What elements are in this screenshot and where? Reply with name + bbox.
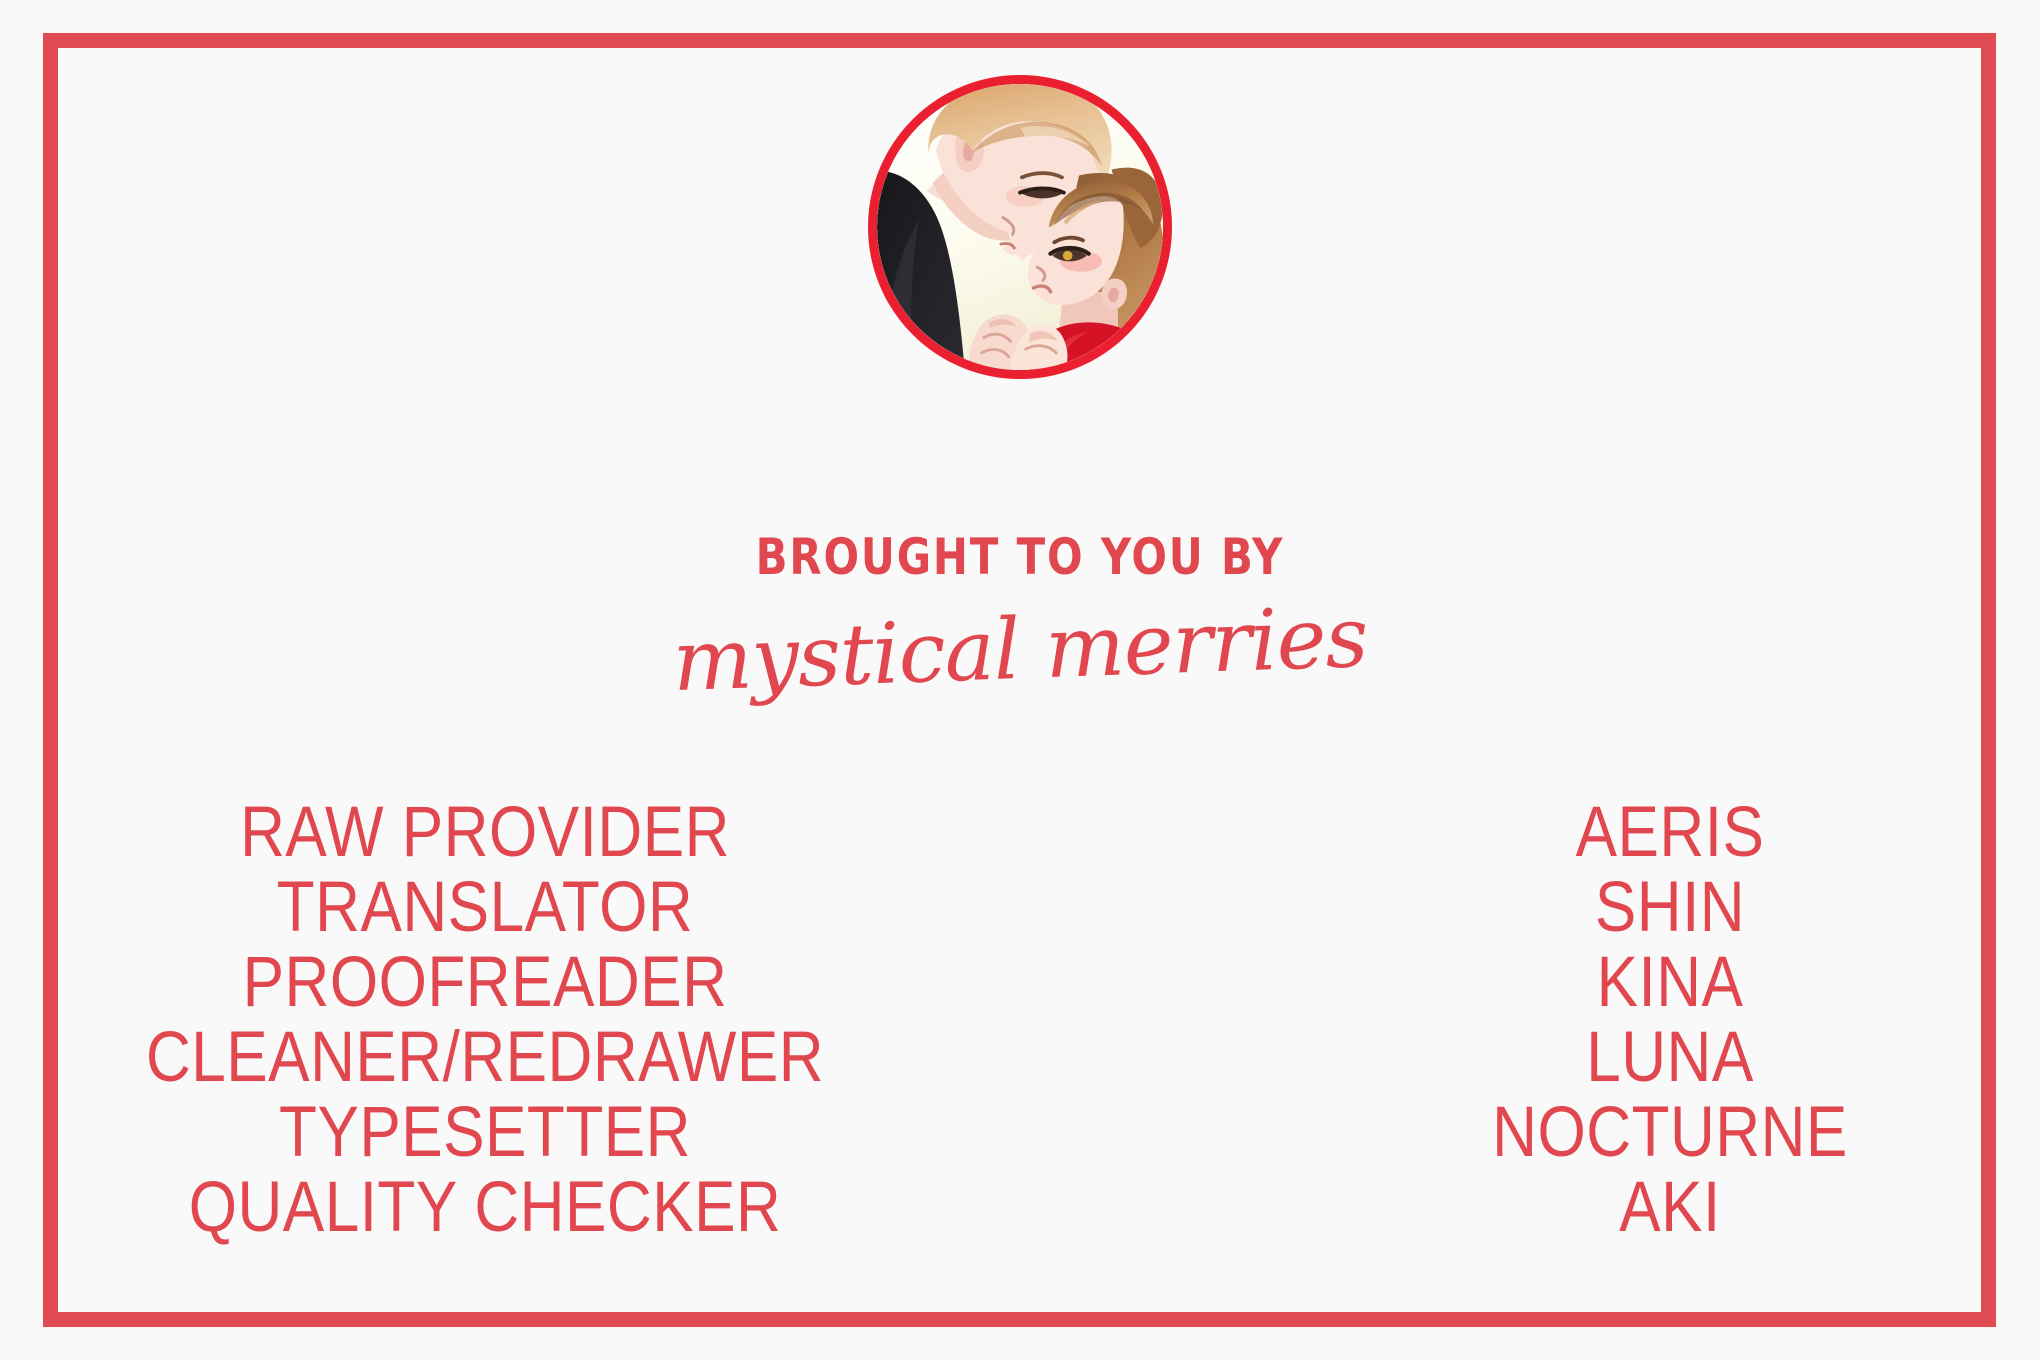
credits-list: RAW PROVIDER TRANSLATOR PROOFREADER CLEA… [0,790,2040,1210]
avatar-ring [868,75,1172,379]
credit-role: TYPESETTER [97,1090,873,1174]
couple-illustration-icon [877,84,1163,370]
credit-name: AKI [1282,1165,2040,1249]
credits-page: BROUGHT TO YOU BY mystical merries RAW P… [0,0,2040,1360]
avatar [868,75,1172,379]
credit-role: CLEANER/REDRAWER [97,1015,873,1099]
credit-name: LUNA [1282,1015,2040,1099]
credits-names-column: AERIS SHIN KINA LUNA NOCTURNE AKI [1270,790,2040,1240]
credit-name: SHIN [1282,865,2040,949]
credit-role: RAW PROVIDER [97,790,873,874]
credit-role: QUALITY CHECKER [97,1165,873,1249]
credit-role: TRANSLATOR [97,865,873,949]
credit-name: NOCTURNE [1282,1090,2040,1174]
credits-roles-column: RAW PROVIDER TRANSLATOR PROOFREADER CLEA… [85,790,885,1240]
credit-name: AERIS [1282,790,2040,874]
credit-role: PROOFREADER [97,940,873,1024]
credit-name: KINA [1282,940,2040,1024]
